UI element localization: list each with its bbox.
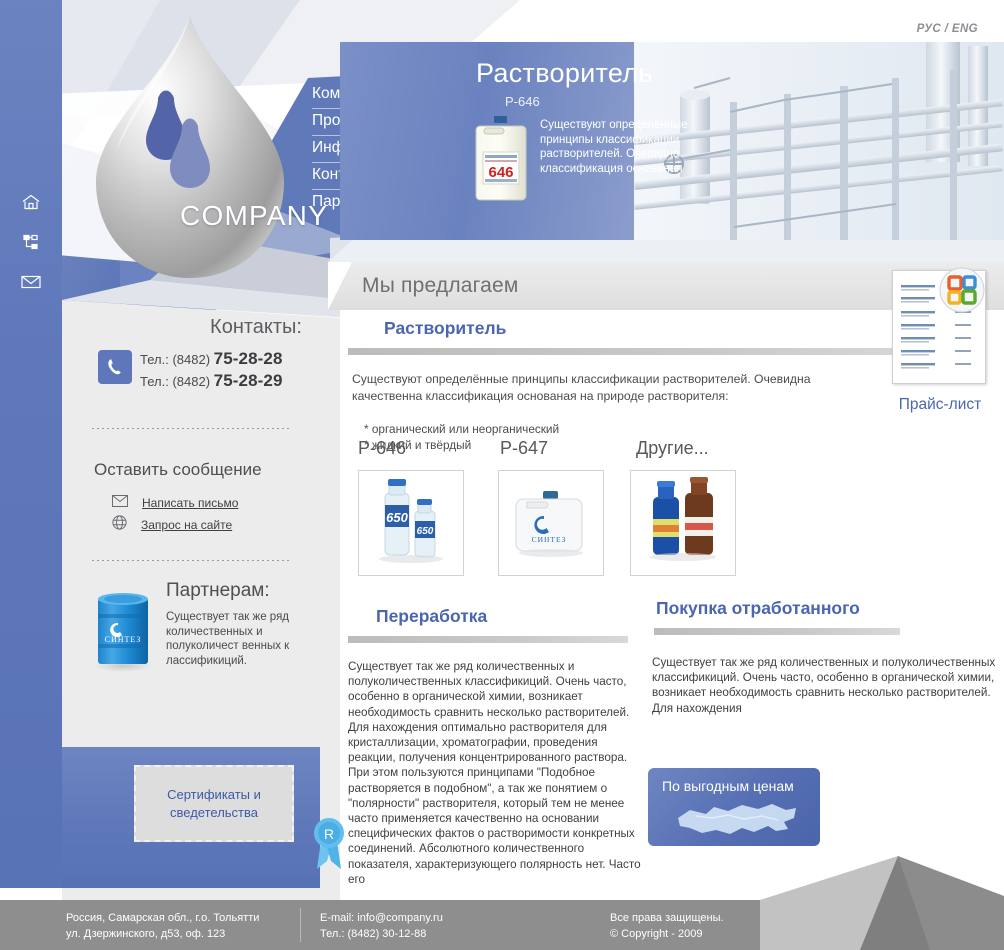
svg-text:646: 646 <box>488 164 513 181</box>
divider <box>92 560 292 561</box>
section-heading-buyback: Покупка отработанного <box>656 598 1004 619</box>
phone-code: (8482) <box>172 374 210 389</box>
phone-label: Тел.: <box>140 352 169 367</box>
message-heading: Оставить сообщение <box>94 460 262 480</box>
mail-icon[interactable] <box>0 266 62 298</box>
message-link-list: Написать письмо Запрос на сайте <box>112 492 238 536</box>
rosette-letter: R <box>324 826 334 842</box>
certificates-label: Сертификаты и сведетельства <box>136 786 292 822</box>
phone-row: Тел.: (8482) 75-28-28 <box>140 348 312 370</box>
footer-address-line2: ул. Дзержинского, д53, оф. 123 <box>66 926 259 942</box>
page-title: Мы предлагаем <box>362 274 518 298</box>
footer-phone: Тел.: (8482) 30-12-88 <box>320 926 443 942</box>
svg-text:СИНТЕЗ: СИНТЕЗ <box>105 635 142 644</box>
left-rail <box>0 0 62 888</box>
write-letter-link[interactable]: Написать письмо <box>142 496 238 510</box>
contacts-heading: Контакты: <box>210 316 302 339</box>
footer-email: E-mail: info@company.ru <box>320 910 443 926</box>
footer-copyright: © Copyright - 2009 <box>610 926 724 942</box>
product-card-other[interactable] <box>630 470 736 576</box>
section-heading-processing: Переработка <box>376 606 648 627</box>
product-label-646: Р-646 <box>358 438 406 459</box>
phone-list: Тел.: (8482) 75-28-28 Тел.: (8482) 75-28… <box>140 348 312 392</box>
footer-divider <box>300 908 301 942</box>
section-rule <box>348 348 936 355</box>
svg-text:650: 650 <box>386 510 408 525</box>
hero-description: Существуют определённые принципы классиф… <box>540 118 698 176</box>
globe-icon <box>112 515 127 535</box>
phone-code: (8482) <box>172 352 210 367</box>
section-intro-text: Существуют определённые принципы классиф… <box>352 371 862 405</box>
sitemap-icon[interactable] <box>0 226 62 258</box>
canister-646-image: 646 <box>472 114 530 204</box>
svg-text:СИНТЕЗ: СИНТЕЗ <box>532 535 567 544</box>
footer-contact: E-mail: info@company.ru Тел.: (8482) 30-… <box>320 910 443 942</box>
section-buyback: Покупка отработанного Существует так же … <box>648 598 1004 728</box>
office-document-icon <box>938 266 986 314</box>
section-rule <box>654 628 900 635</box>
home-icon[interactable] <box>0 186 62 218</box>
section-processing: Переработка Существует так же ряд количе… <box>348 606 648 899</box>
russia-map-icon <box>672 798 802 844</box>
phone-number: 75-28-29 <box>214 371 283 390</box>
certificates-button[interactable]: Сертификаты и сведетельства <box>134 765 294 842</box>
pyramid-decoration <box>760 854 1004 950</box>
language-switcher[interactable]: РУС / ENG <box>917 23 978 35</box>
certificates-panel: Сертификаты и сведетельства R <box>62 747 320 888</box>
sidebar: Контакты: Тел.: (8482) 75-28-28 Тел.: (8… <box>62 300 320 747</box>
product-card-647[interactable]: СИНТЕЗ <box>498 470 604 576</box>
svg-text:650: 650 <box>417 526 434 537</box>
rail-icon-list <box>0 186 62 306</box>
phone-row: Тел.: (8482) 75-28-29 <box>140 370 312 392</box>
best-prices-button[interactable]: По выгодным ценам <box>648 768 820 846</box>
bullet-item: * органический или неорганический <box>364 421 1004 437</box>
phone-icon <box>98 350 132 384</box>
message-link-email-row[interactable]: Написать письмо <box>112 492 238 514</box>
site-request-link[interactable]: Запрос на сайте <box>141 518 232 532</box>
divider <box>92 428 292 429</box>
price-list-label[interactable]: Прайс-лист <box>888 396 992 414</box>
phone-number: 75-28-28 <box>214 349 283 368</box>
envelope-icon <box>112 494 128 512</box>
hero-title: Растворитель <box>476 58 653 89</box>
product-card-list: Р-646 650 65 <box>358 446 778 596</box>
logo[interactable]: COMPANY <box>60 10 320 290</box>
footer-address: Россия, Самарская обл., г.о. Тольятти ул… <box>66 910 259 942</box>
best-prices-label: По выгодным ценам <box>662 778 794 794</box>
footer-rights-line1: Все права защищены. <box>610 910 724 926</box>
two-plastic-bottles-image: 650 650 <box>359 471 461 573</box>
barrel-image: СИНТЕЗ <box>90 588 156 672</box>
footer-rights: Все права защищены. © Copyright - 2009 <box>610 910 724 942</box>
price-list-thumbnail[interactable] <box>892 270 984 382</box>
product-label-other: Другие... <box>636 438 709 459</box>
page-root: COMPANY Компания Продукция Информация Ко… <box>0 0 1004 950</box>
white-canister-image: СИНТЕЗ <box>499 471 601 573</box>
phone-label: Тел.: <box>140 374 169 389</box>
section-body-buyback: Существует так же ряд количественных и п… <box>652 655 1004 716</box>
product-card-646[interactable]: 650 650 <box>358 470 464 576</box>
partners-text: Существует так же ряд количественных и п… <box>166 610 306 668</box>
product-label-647: Р-647 <box>500 438 548 459</box>
footer-address-line1: Россия, Самарская обл., г.о. Тольятти <box>66 910 259 926</box>
section-body-processing: Существует так же ряд количественных и п… <box>348 659 648 887</box>
hero-subtitle: Р-646 <box>505 94 540 109</box>
rosette-icon: R <box>307 807 351 871</box>
message-link-request-row[interactable]: Запрос на сайте <box>112 514 238 536</box>
blue-and-brown-bottles-image <box>631 471 733 573</box>
partners-heading: Партнерам: <box>166 580 270 602</box>
hero-banner: Растворитель Р-646 646 <box>340 42 1004 240</box>
section-rule <box>348 636 628 643</box>
